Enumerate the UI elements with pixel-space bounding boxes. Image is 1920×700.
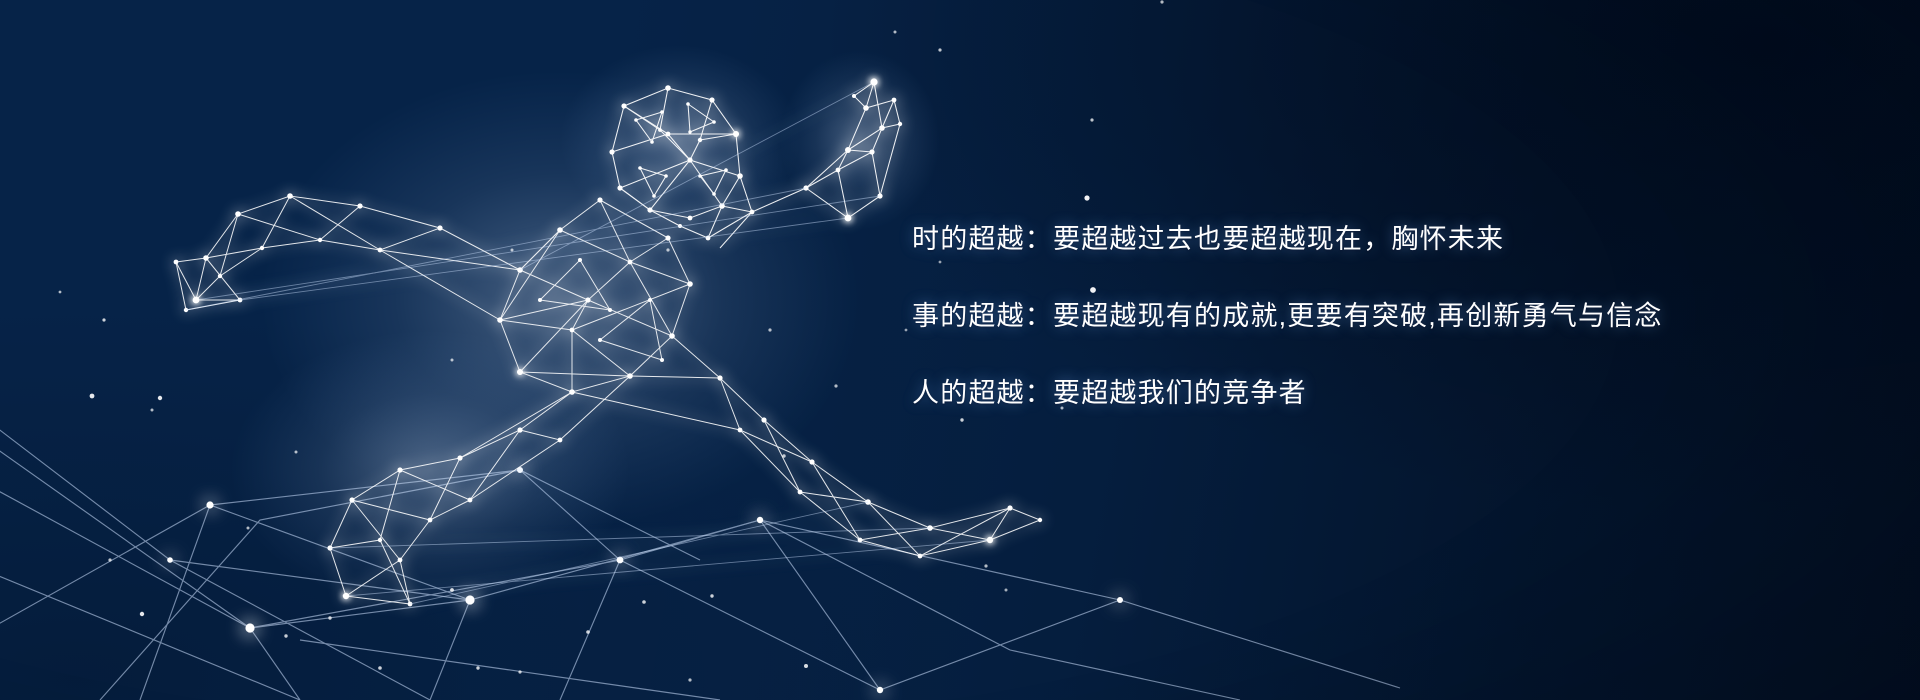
tagline-line-3: 人的超越：要超越我们的竞争者 xyxy=(912,380,1792,407)
tagline-line-2: 事的超越：要超越现有的成就,更要有突破,再创新勇气与信念 xyxy=(912,303,1792,330)
tagline-block: 时的超越：要超越过去也要超越现在，胸怀未来 事的超越：要超越现有的成就,更要有突… xyxy=(912,226,1792,407)
tagline-line-1: 时的超越：要超越过去也要超越现在，胸怀未来 xyxy=(912,226,1792,253)
hero-banner: 时的超越：要超越过去也要超越现在，胸怀未来 事的超越：要超越现有的成就,更要有突… xyxy=(0,0,1920,700)
